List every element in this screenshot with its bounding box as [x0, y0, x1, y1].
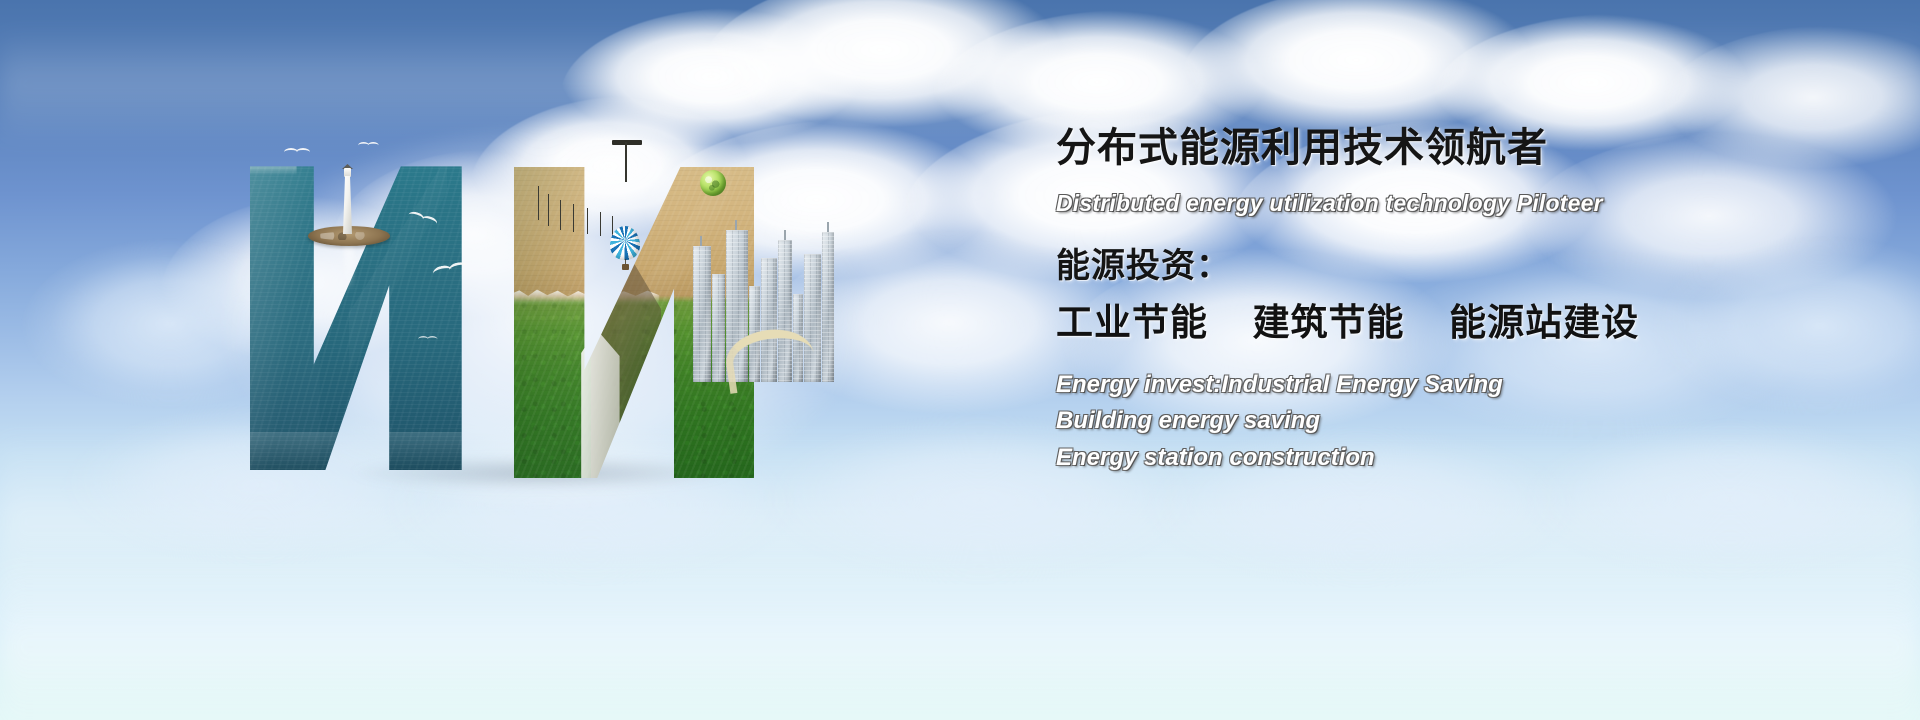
ocean-v-shape — [250, 140, 540, 470]
lighthouse-icon — [340, 162, 355, 234]
service-items-chinese: 工业节能 建筑节能 能源站建设 — [1056, 302, 1896, 345]
service-item-building-en: Building energy saving — [1056, 403, 1896, 439]
green-globe-icon — [700, 170, 726, 196]
land-v-shape — [514, 140, 834, 478]
service-item-station-en: Energy station construction — [1056, 440, 1896, 476]
subheadline-english: Distributed energy utilization technolog… — [1056, 190, 1896, 217]
service-item-station-cn: 能源站建设 — [1449, 302, 1639, 343]
service-item-industrial-en: Energy invest:Industrial Energy Saving — [1056, 367, 1896, 403]
signpost-icon — [610, 136, 646, 182]
hot-air-balloon-icon — [610, 226, 640, 272]
lighthouse-reflection — [344, 248, 354, 292]
service-item-building-cn: 建筑节能 — [1253, 302, 1405, 343]
hero-banner: 分布式能源利用技术领航者 Distributed energy utilizat… — [0, 0, 1920, 720]
banner-copy: 分布式能源利用技术领航者 Distributed energy utilizat… — [1056, 126, 1896, 476]
service-items-english: Energy invest:Industrial Energy Saving B… — [1056, 367, 1896, 476]
service-item-industrial-cn: 工业节能 — [1056, 302, 1208, 343]
headline-chinese: 分布式能源利用技术领航者 — [1056, 126, 1896, 170]
w-letterform-artwork — [232, 118, 852, 498]
section-label-chinese: 能源投资： — [1056, 247, 1896, 286]
